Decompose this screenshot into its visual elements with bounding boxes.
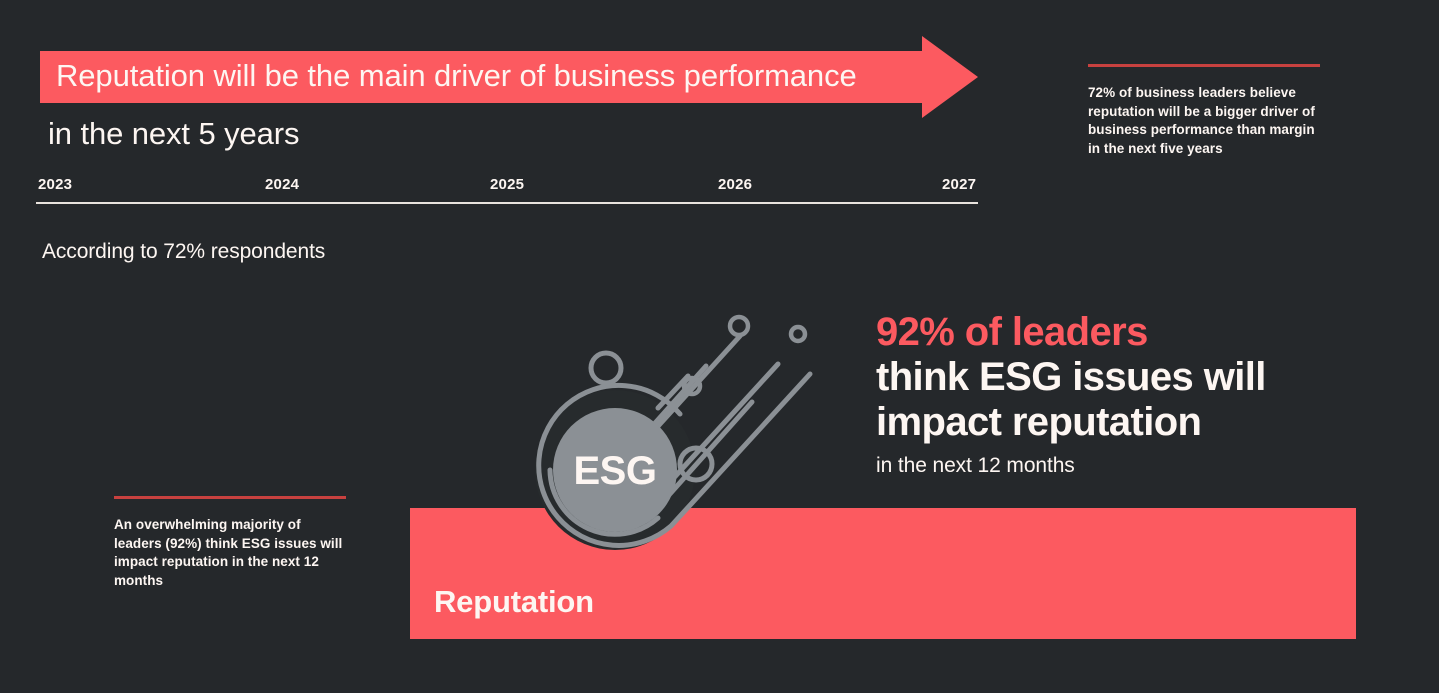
timeline-tick-2024: 2024	[265, 176, 299, 193]
esg-label: ESG	[574, 449, 657, 493]
reputation-banner-label: Reputation	[434, 582, 594, 622]
esg-stat-block: 92% of leaders think ESG issues will imp…	[876, 310, 1346, 478]
timeline-baseline	[36, 202, 978, 204]
headline-line-1: Reputation will be the main driver of bu…	[56, 56, 916, 96]
stat-body-line-1: think ESG issues will	[876, 355, 1346, 400]
stat-body-line-2: impact reputation	[876, 400, 1346, 445]
caption-bottom-left-text: An overwhelming majority of leaders (92%…	[114, 516, 346, 590]
esg-comet-illustration: ESG	[510, 278, 840, 568]
timeline-axis: 2023 2024 2025 2026 2027	[36, 176, 978, 204]
timeline-tick-2026: 2026	[718, 176, 752, 193]
caption-rule	[1088, 64, 1320, 67]
timeline-tick-2027: 2027	[942, 176, 976, 193]
respondents-note: According to 72% respondents	[42, 240, 325, 264]
comet-svg: ESG	[510, 278, 840, 568]
caption-bottom-left: An overwhelming majority of leaders (92%…	[114, 496, 346, 590]
stat-headline-percent: 92% of leaders	[876, 310, 1346, 355]
infographic-slide: Reputation will be the main driver of bu…	[0, 0, 1439, 693]
stat-footnote: in the next 12 months	[876, 454, 1346, 478]
caption-top-right: 72% of business leaders believe reputati…	[1088, 64, 1320, 158]
caption-top-right-text: 72% of business leaders believe reputati…	[1088, 84, 1320, 158]
timeline-tick-2025: 2025	[490, 176, 524, 193]
caption-rule	[114, 496, 346, 499]
timeline-tick-2023: 2023	[38, 176, 72, 193]
headline-line-2: in the next 5 years	[48, 114, 299, 154]
